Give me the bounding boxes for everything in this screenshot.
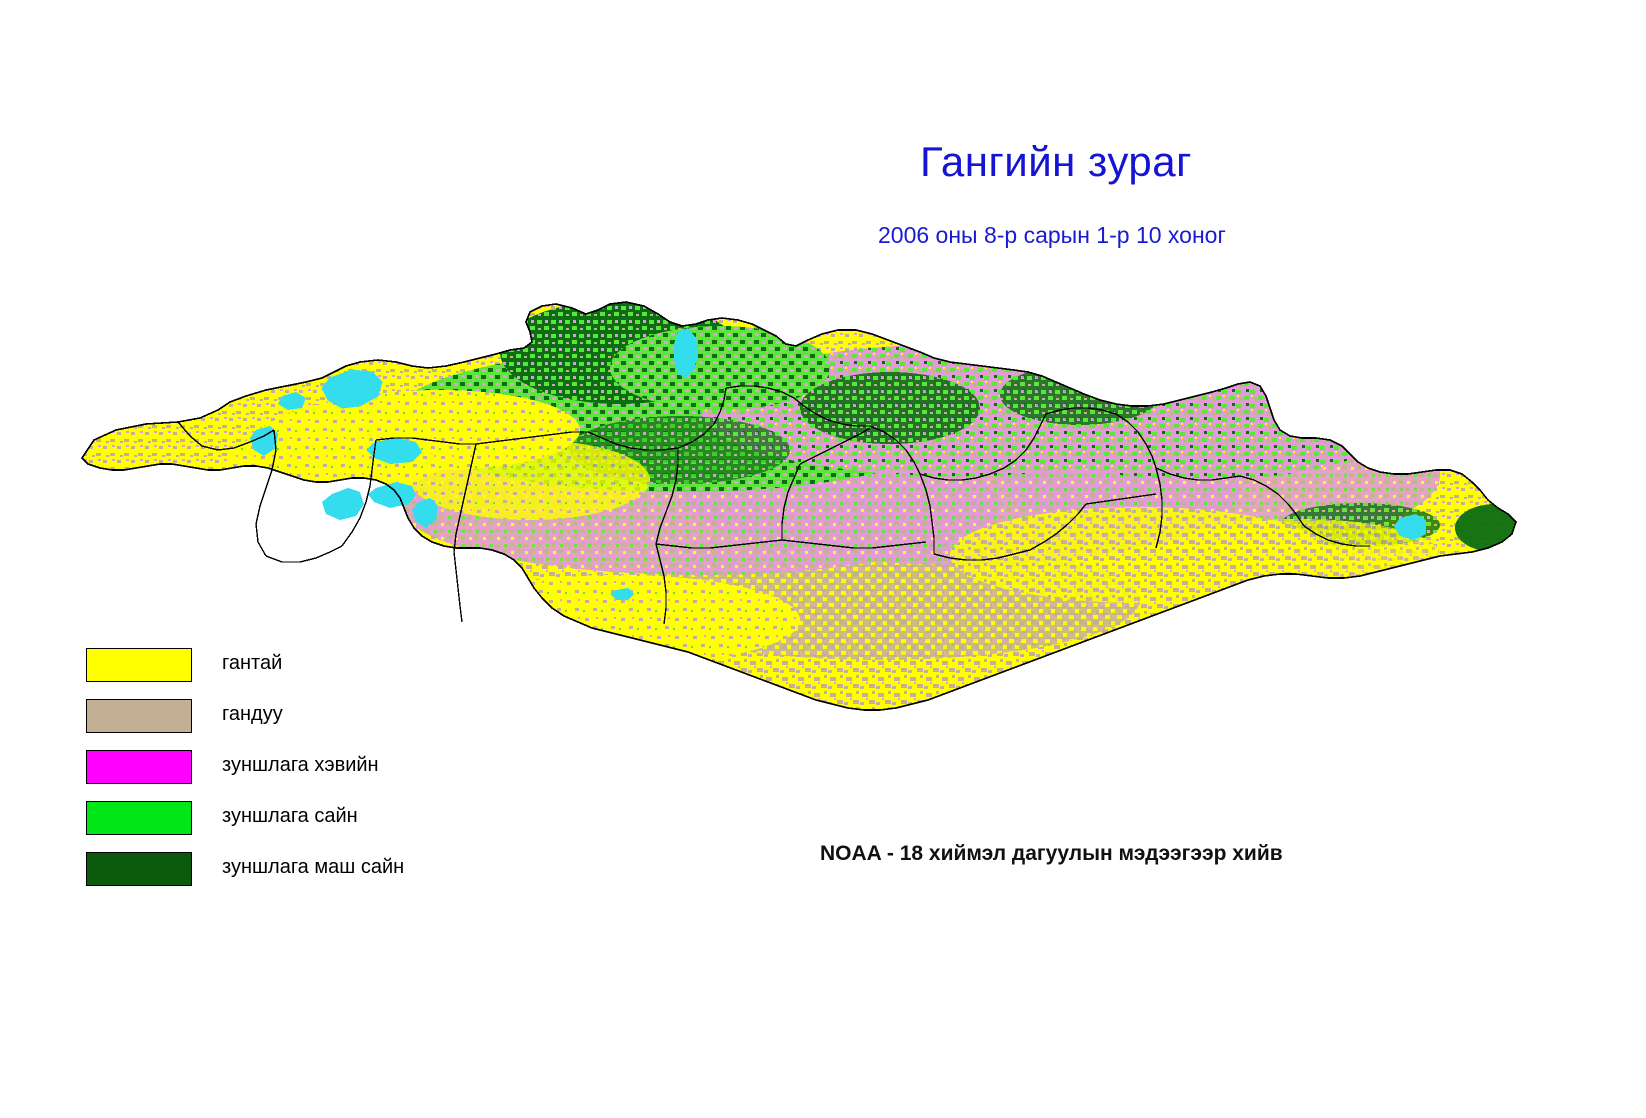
page-title: Гангийн зураг — [920, 138, 1192, 186]
lake-khar-nuur — [322, 488, 364, 520]
legend-label-good-pasture: зуншлага сайн — [222, 805, 358, 828]
source-attribution: NOAA - 18 хиймэл дагуулын мэдээгээр хийв — [820, 842, 1283, 866]
page-subtitle: 2006 оны 8-р сарын 1-р 10 хоног — [878, 222, 1226, 249]
legend-swatch-normal-pasture — [86, 750, 192, 784]
legend-item: гандуу — [86, 699, 506, 750]
class-area-northeast-verygood — [1000, 365, 1160, 425]
legend-swatch-good-pasture — [86, 801, 192, 835]
class-area-transition-west — [410, 440, 650, 520]
legend-label-near-drought: гандуу — [222, 703, 283, 726]
class-area-khentii-verygood — [800, 372, 980, 444]
legend: гантай гандуу зуншлага хэвийн зуншлага с… — [86, 648, 506, 903]
legend-item: гантай — [86, 648, 506, 699]
legend-label-very-good-pasture: зуншлага маш сайн — [222, 856, 404, 879]
aimag-border-gobi-altai-south — [454, 552, 462, 622]
legend-label-drought: гантай — [222, 652, 282, 675]
legend-label-normal-pasture: зуншлага хэвийн — [222, 754, 379, 777]
aimag-border-khovd-south — [266, 546, 342, 562]
legend-swatch-drought — [86, 648, 192, 682]
map-page: Гангийн зураг 2006 оны 8-р сарын 1-р 10 … — [0, 0, 1646, 1118]
legend-item: зуншлага сайн — [86, 801, 506, 852]
legend-item: зуншлага хэвийн — [86, 750, 506, 801]
class-area-khuvsgul-good — [610, 326, 830, 410]
legend-swatch-very-good-pasture — [86, 852, 192, 886]
legend-item: зуншлага маш сайн — [86, 852, 506, 903]
legend-swatch-near-drought — [86, 699, 192, 733]
